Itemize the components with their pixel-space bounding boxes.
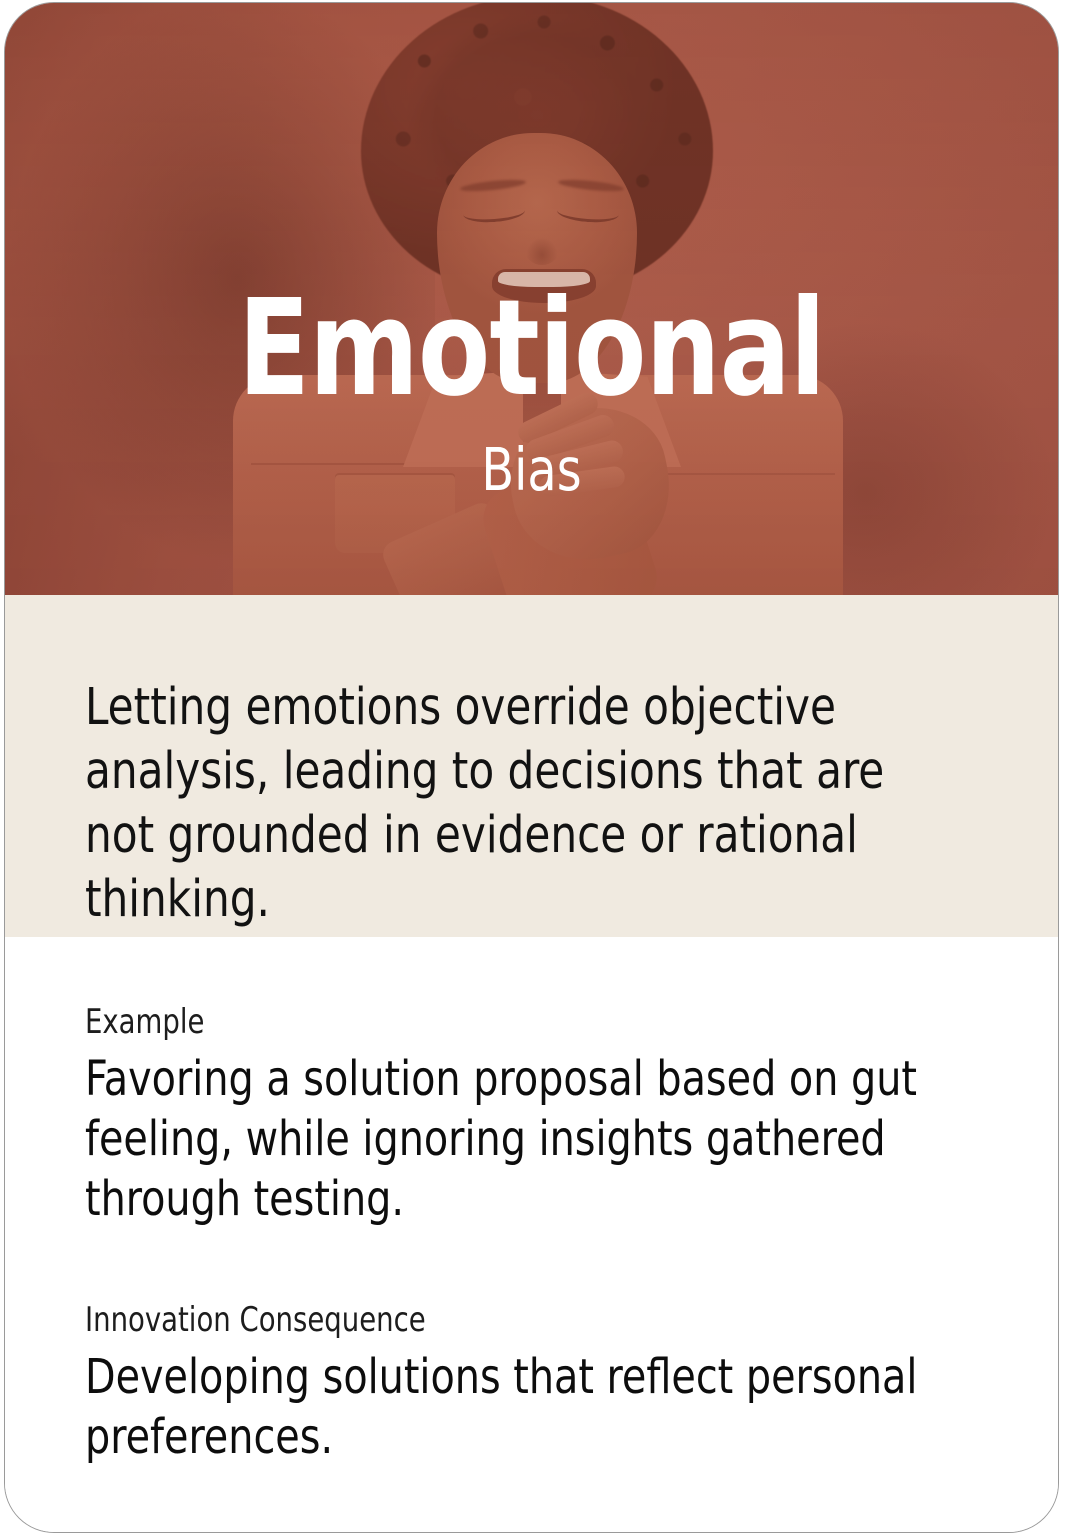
hero-text-group: Emotional Bias [5,3,1058,595]
section-example-body: Favoring a solution proposal based on gu… [85,1049,931,1229]
section-innovation-consequence: Innovation Consequence Developing soluti… [85,1301,1005,1467]
bias-card: Emotional Bias Letting emotions override… [4,2,1059,1533]
description-band: Letting emotions override objective anal… [5,595,1058,937]
section-example-label: Example [85,1003,913,1041]
card-subtitle: Bias [58,440,1006,499]
section-innovation-consequence-body: Developing solutions that reflect person… [85,1347,931,1467]
card-body: Example Favoring a solution proposal bas… [5,937,1058,1532]
description-text: Letting emotions override objective anal… [85,676,930,932]
section-innovation-consequence-label: Innovation Consequence [85,1301,913,1339]
card-title: Emotional [68,283,995,416]
card-hero-header: Emotional Bias [5,3,1058,595]
section-example: Example Favoring a solution proposal bas… [85,1003,1005,1229]
